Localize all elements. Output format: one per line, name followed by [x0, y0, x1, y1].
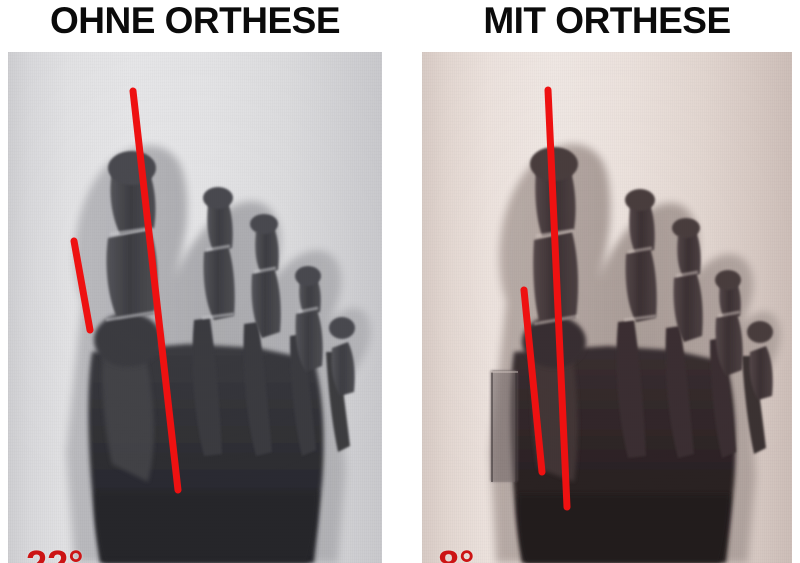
panel-title-left: OHNE ORTHESE [8, 0, 382, 44]
angle-label-right: 8° [438, 546, 474, 563]
figure-root: OHNE ORTHESE MIT ORTHESE [0, 0, 800, 563]
hallux-axis-line-left [133, 91, 178, 490]
xray-panel-right: 8° [422, 52, 792, 563]
hallux-axis-line-right [548, 90, 567, 507]
xray-panel-left: 22° [8, 52, 382, 563]
angle-label-left: 22° [26, 546, 83, 563]
panel-title-right: MIT ORTHESE [422, 0, 792, 44]
angle-lines-left [8, 52, 382, 563]
angle-lines-right [422, 52, 792, 563]
metatarsal-axis-line-right [524, 290, 542, 472]
metatarsal-axis-line-left [74, 241, 90, 330]
